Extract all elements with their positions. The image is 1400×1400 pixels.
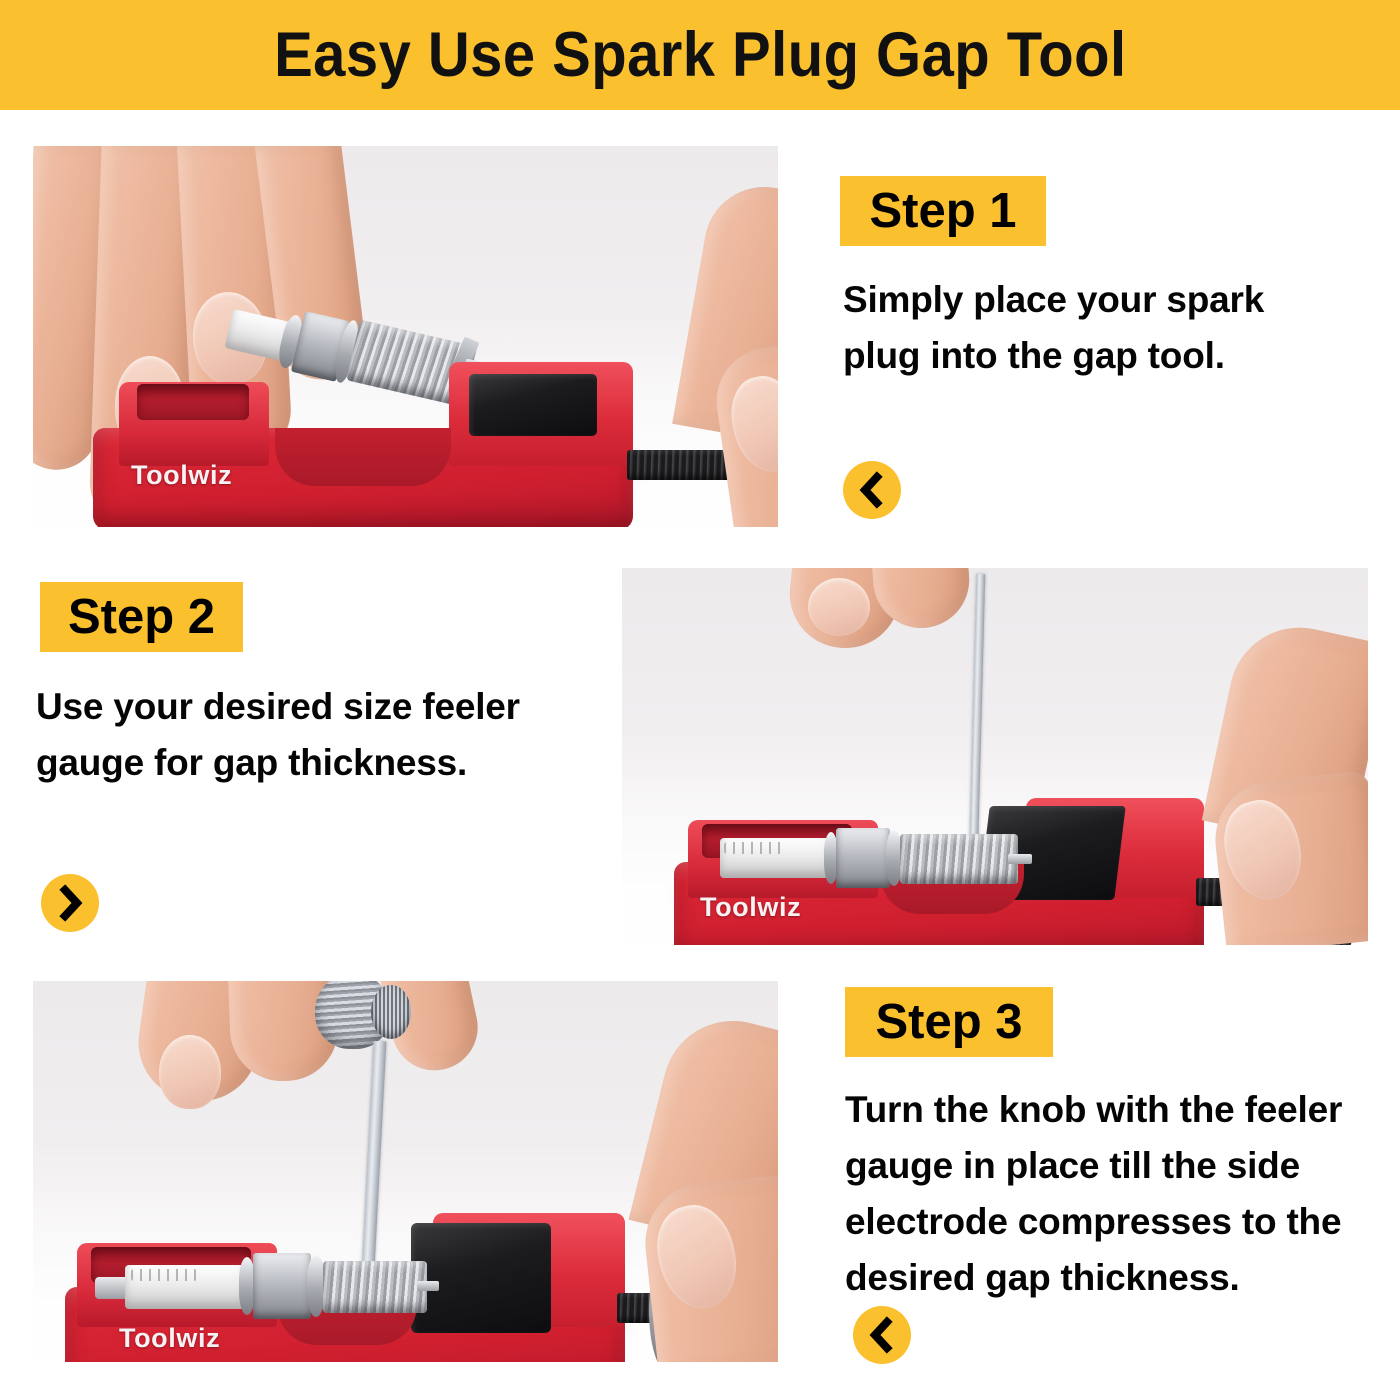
plug-threaded-shell — [323, 1261, 427, 1313]
plug-threaded-shell — [900, 834, 1018, 884]
chevron-left-icon — [853, 1306, 911, 1364]
plug-ceramic-ribs — [724, 842, 782, 854]
plug-center-electrode — [417, 1281, 439, 1291]
feeler-gauge-pivot-nut — [371, 985, 411, 1039]
gap-tool: Toolwiz — [93, 342, 693, 527]
plug-ceramic-insulator — [720, 838, 830, 878]
fingernail — [808, 578, 870, 636]
brand-logo: Toolwiz — [131, 460, 232, 491]
header-banner: Easy Use Spark Plug Gap Tool — [0, 0, 1400, 110]
spark-plug — [720, 816, 1020, 916]
step-1-photo: Toolwiz — [33, 146, 778, 527]
tool-center-notch — [275, 428, 451, 486]
plug-center-electrode — [1008, 854, 1032, 864]
step-3-photo: Toolwiz — [33, 981, 778, 1362]
chevron-right-icon — [41, 874, 99, 932]
plug-hex-nut — [253, 1253, 311, 1319]
plug-ceramic-insulator — [125, 1265, 245, 1309]
step-1-description: Simply place your spark plug into the ga… — [843, 272, 1333, 384]
chevron-left-icon — [843, 461, 901, 519]
page-title: Easy Use Spark Plug Gap Tool — [274, 24, 1126, 87]
step-2-badge: Step 2 — [40, 582, 243, 652]
step-3-arrow-button[interactable] — [853, 1306, 911, 1364]
step-3-badge: Step 3 — [845, 987, 1053, 1057]
plug-hex-nut — [836, 828, 890, 888]
plug-ceramic-ribs — [131, 1269, 197, 1281]
plug-terminal — [95, 1277, 129, 1299]
step-3-description: Turn the knob with the feeler gauge in p… — [845, 1082, 1355, 1306]
tool-plug-channel — [137, 384, 249, 420]
step-1-badge: Step 1 — [840, 176, 1046, 246]
anvil-block — [469, 374, 597, 436]
spark-plug — [103, 1243, 413, 1353]
step-1-arrow-button[interactable] — [843, 461, 901, 519]
step-2-arrow-button[interactable] — [41, 874, 99, 932]
step-2-photo: Toolwiz — [622, 568, 1368, 945]
step-2-description: Use your desired size feeler gauge for g… — [36, 679, 576, 791]
anvil-block — [411, 1223, 551, 1333]
fingernail — [159, 1035, 221, 1109]
